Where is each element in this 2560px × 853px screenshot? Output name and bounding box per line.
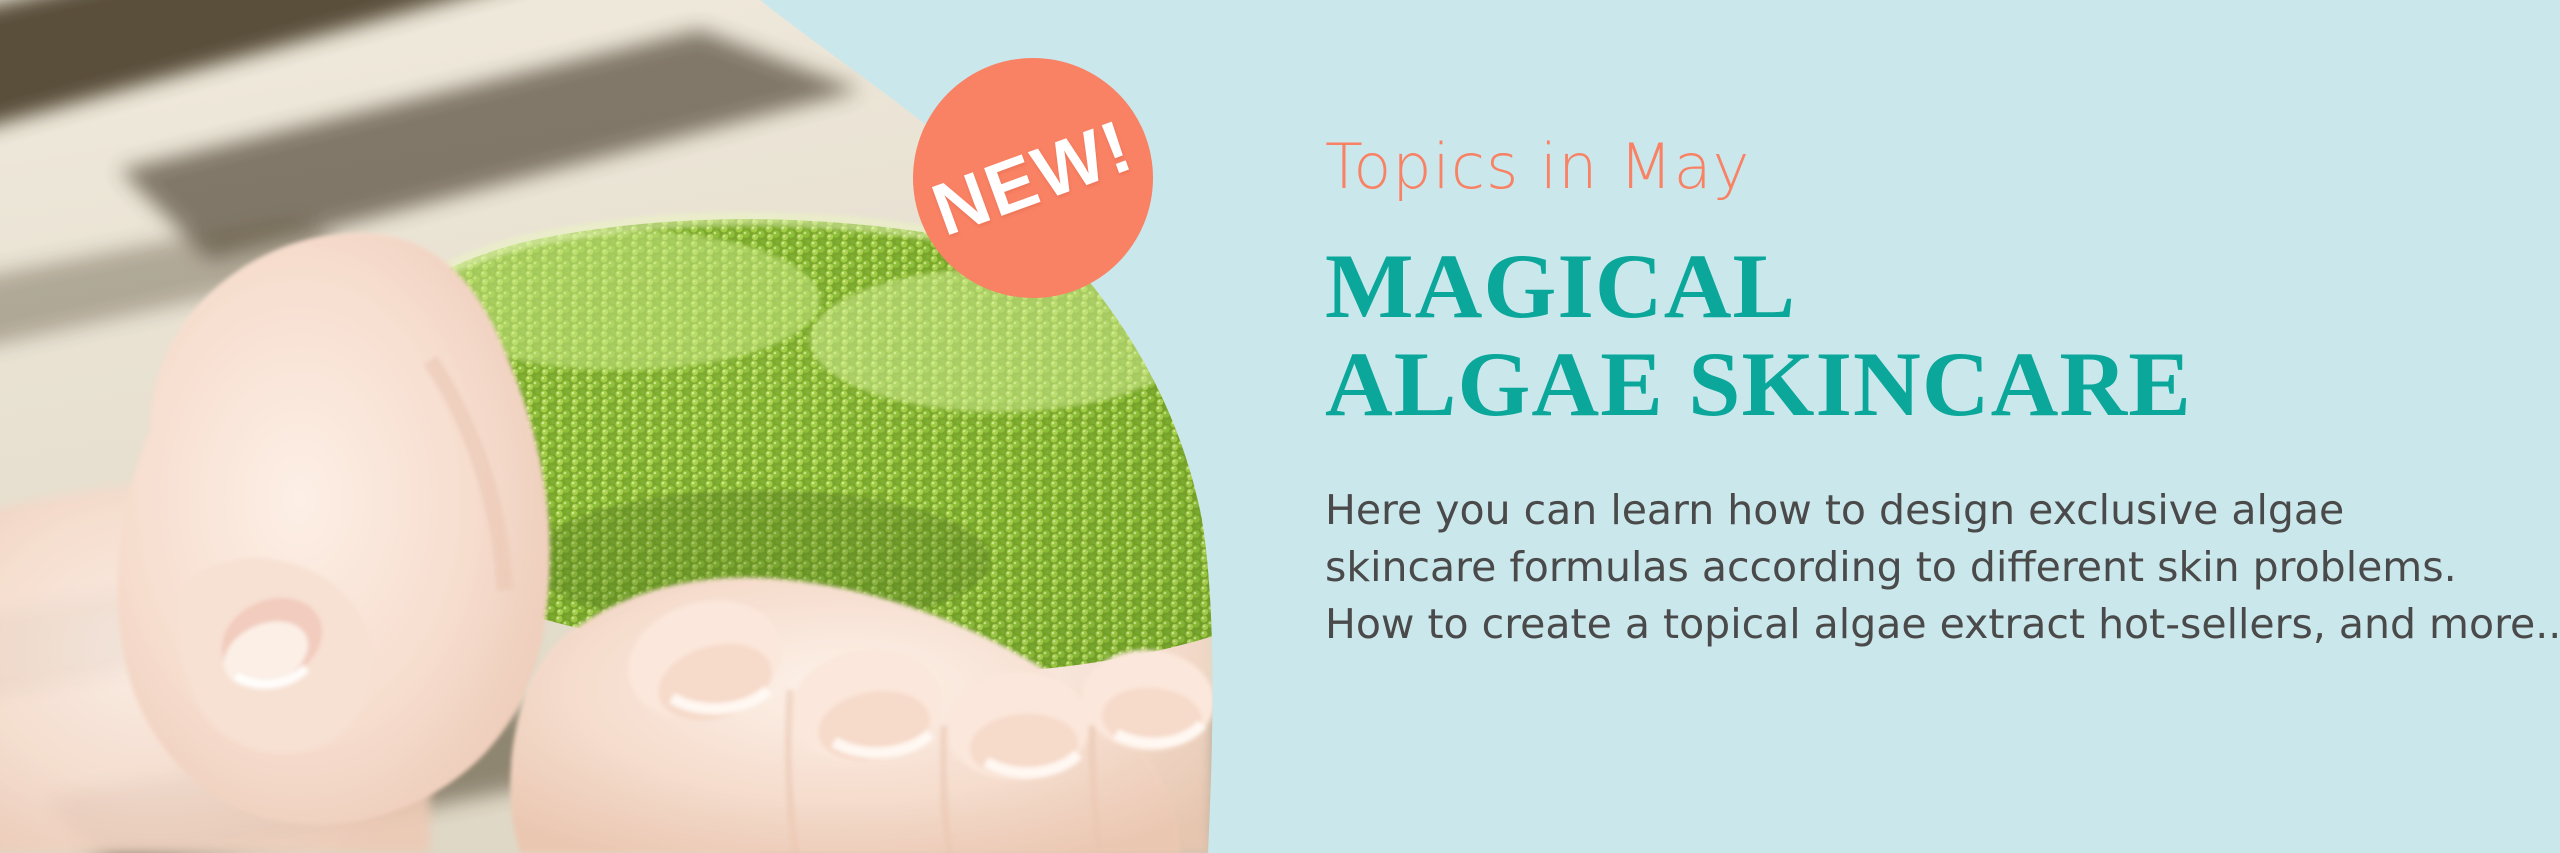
new-badge-label: NEW! [924, 108, 1142, 248]
promo-banner: NEW! Topics in May MAGICAL ALGAE SKINCAR… [0, 0, 2560, 853]
new-badge[interactable]: NEW! [913, 58, 1153, 298]
eyebrow-text: Topics in May [1325, 136, 1750, 198]
headline-line-2: ALGAE SKINCARE [1325, 338, 2192, 430]
body-line-3: How to create a topical algae extract ho… [1325, 604, 2560, 645]
body-line-1: Here you can learn how to design exclusi… [1325, 490, 2344, 531]
banner-text-panel: Topics in May MAGICAL ALGAE SKINCARE Her… [1325, 0, 2525, 853]
body-line-2: skincare formulas according to different… [1325, 547, 2457, 588]
headline-line-1: MAGICAL [1325, 240, 1796, 332]
